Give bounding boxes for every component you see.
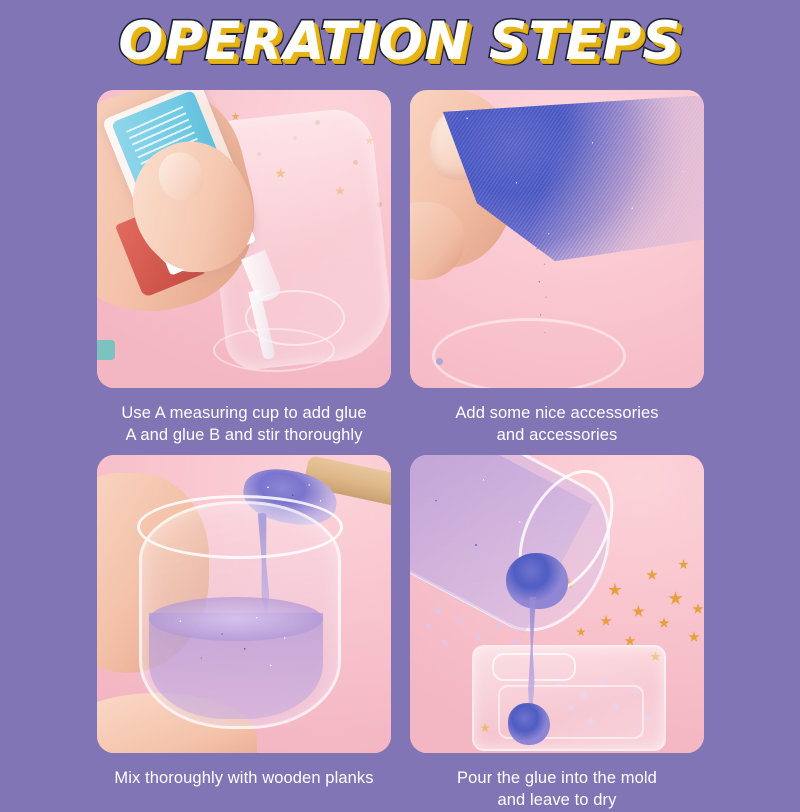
step-2-photo [410, 90, 704, 388]
dot-confetti-icon [436, 358, 443, 365]
step-1-photo: EPOXY RESIN [97, 90, 391, 388]
page-title: OPERATION STEPS [118, 15, 681, 68]
caption-line-2: and leave to dry [410, 789, 704, 811]
poster-title-area: OPERATION STEPS [0, 4, 800, 78]
caption-line-1: Pour the glue into the mold [457, 769, 657, 787]
resin-pool-in-mold [508, 703, 550, 745]
caption-line-1: Use A measuring cup to add glue [121, 404, 366, 422]
caption-line-1: Mix thoroughly with wooden planks [114, 769, 373, 787]
caption-line-1: Add some nice accessories [455, 404, 658, 422]
step-1-caption: Use A measuring cup to add glue A and gl… [97, 402, 391, 447]
step-4-photo [410, 455, 704, 753]
holo-confetti-icon [424, 621, 433, 630]
holo-confetti-icon [472, 631, 484, 643]
step-3-photo [97, 455, 391, 753]
resin-sparkles [149, 601, 323, 693]
cup-rim-outline [432, 318, 626, 388]
step-card-4: Pour the glue into the mold and leave to… [410, 455, 704, 812]
step-3-caption: Mix thoroughly with wooden planks [97, 767, 391, 789]
step-card-2: Add some nice accessories and accessorie… [410, 90, 704, 447]
step-4-caption: Pour the glue into the mold and leave to… [410, 767, 704, 812]
cup-rim [137, 495, 343, 559]
holo-confetti-icon [440, 637, 450, 647]
resin-glob [506, 553, 568, 609]
step-card-1: EPOXY RESIN Use A measuring cup to add g… [97, 90, 391, 447]
holo-confetti-icon [432, 605, 443, 616]
holo-confetti-icon [454, 615, 464, 625]
teal-object [97, 340, 115, 360]
step-2-caption: Add some nice accessories and accessorie… [410, 402, 704, 447]
poster-root: OPERATION STEPS [0, 0, 800, 800]
caption-line-2: and accessories [410, 424, 704, 446]
caption-line-2: A and glue B and stir thoroughly [97, 424, 391, 446]
step-card-3: Mix thoroughly with wooden planks [97, 455, 391, 789]
steps-grid: EPOXY RESIN Use A measuring cup to add g… [97, 90, 704, 750]
